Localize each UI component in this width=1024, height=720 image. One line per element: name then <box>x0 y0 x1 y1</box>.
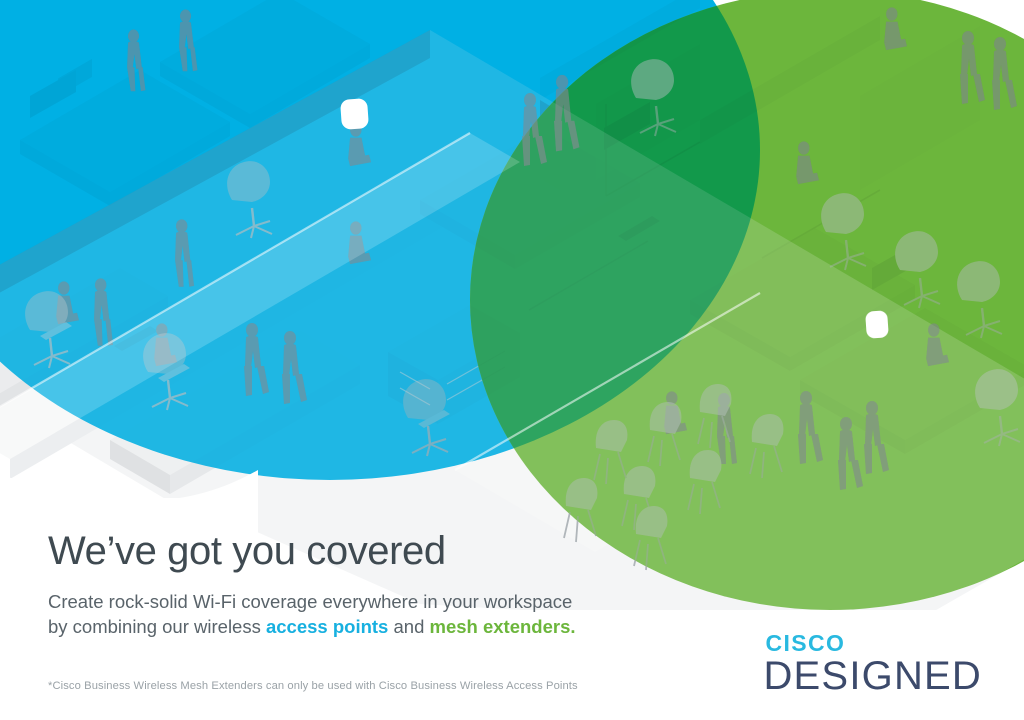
logo-program-designed: DESIGNED <box>763 656 982 696</box>
subhead-line-2-prefix: by combining our wireless <box>48 616 266 637</box>
emphasis-mesh-extenders: mesh extenders. <box>430 616 576 637</box>
page-title: We’ve got you covered <box>48 530 668 572</box>
marketing-copy-block: We’ve got you covered Create rock-solid … <box>48 530 668 720</box>
subhead-line-2-middle: and <box>388 616 429 637</box>
logo-brand-cisco: CISCO <box>765 632 982 655</box>
cisco-designed-logo: CISCO DESIGNED <box>763 632 982 696</box>
access-point-device <box>340 98 369 130</box>
footnote-disclaimer: *Cisco Business Wireless Mesh Extenders … <box>48 679 668 694</box>
mesh-extender-device <box>865 310 889 338</box>
emphasis-access-points: access points <box>266 616 388 637</box>
subheadline: Create rock-solid Wi-Fi coverage everywh… <box>48 590 628 639</box>
subhead-line-1: Create rock-solid Wi-Fi coverage everywh… <box>48 591 572 612</box>
poster-canvas: We’ve got you covered Create rock-solid … <box>0 0 1024 720</box>
